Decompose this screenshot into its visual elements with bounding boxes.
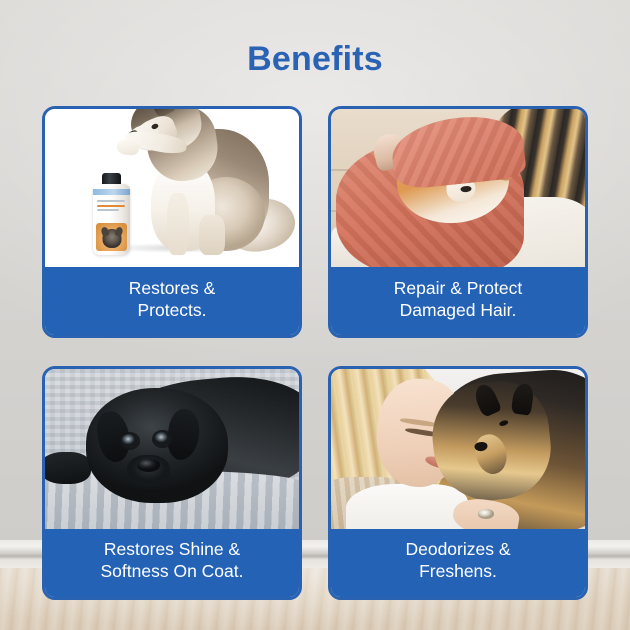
shepherd-eye <box>498 419 508 426</box>
bottle-label-line <box>97 200 125 202</box>
puppy-head <box>86 388 228 503</box>
puppy-nose <box>137 459 160 472</box>
bottle-label-photo <box>96 223 127 251</box>
benefit-card-deodorizes-freshens[interactable]: Deodorizes & Freshens. <box>328 366 588 600</box>
shepherd-ear-right <box>510 382 534 415</box>
benefit-image-husky-with-bottle <box>45 109 299 267</box>
husky-dog-illustration <box>121 109 291 257</box>
benefit-caption: Repair & Protect Damaged Hair. <box>331 267 585 336</box>
puppy-eye-right <box>154 432 171 446</box>
dog-back-leg <box>199 215 225 255</box>
benefit-card-restores-shine-softness[interactable]: Restores Shine & Softness On Coat. <box>42 366 302 600</box>
shepherd-ear-left <box>471 382 502 418</box>
bottle-label-line <box>97 209 119 211</box>
benefit-image-woman-kissing-dog <box>331 369 585 529</box>
benefit-caption: Restores & Protects. <box>45 267 299 336</box>
page-title: Benefits <box>0 40 630 79</box>
dog-front-leg <box>167 193 189 255</box>
benefit-card-restores-protects[interactable]: Restores & Protects. <box>42 106 302 338</box>
bottle-label-dog-icon <box>102 229 121 248</box>
benefits-page: Benefits <box>0 0 630 630</box>
woman-shirt <box>346 484 468 529</box>
bottle-brand-band <box>93 189 130 195</box>
benefit-card-repair-protect-damaged-hair[interactable]: Repair & Protect Damaged Hair. <box>328 106 588 338</box>
bottle-body <box>93 184 130 255</box>
benefits-grid: Restores & Protects. <box>42 106 588 600</box>
ring <box>478 509 493 519</box>
benefit-image-corgi-in-towel <box>331 109 585 267</box>
benefit-caption: Deodorizes & Freshens. <box>331 529 585 598</box>
bottle-label-line <box>97 205 125 207</box>
dog-ear-right <box>176 109 196 111</box>
puppy-ear-right <box>165 407 203 461</box>
puppy-eye-left <box>121 434 138 448</box>
puppy-paw <box>45 452 91 484</box>
shampoo-bottle <box>93 173 130 255</box>
shepherd-muzzle <box>471 430 511 477</box>
benefit-caption: Restores Shine & Softness On Coat. <box>45 529 299 598</box>
benefit-image-black-puppy-on-blanket <box>45 369 299 529</box>
